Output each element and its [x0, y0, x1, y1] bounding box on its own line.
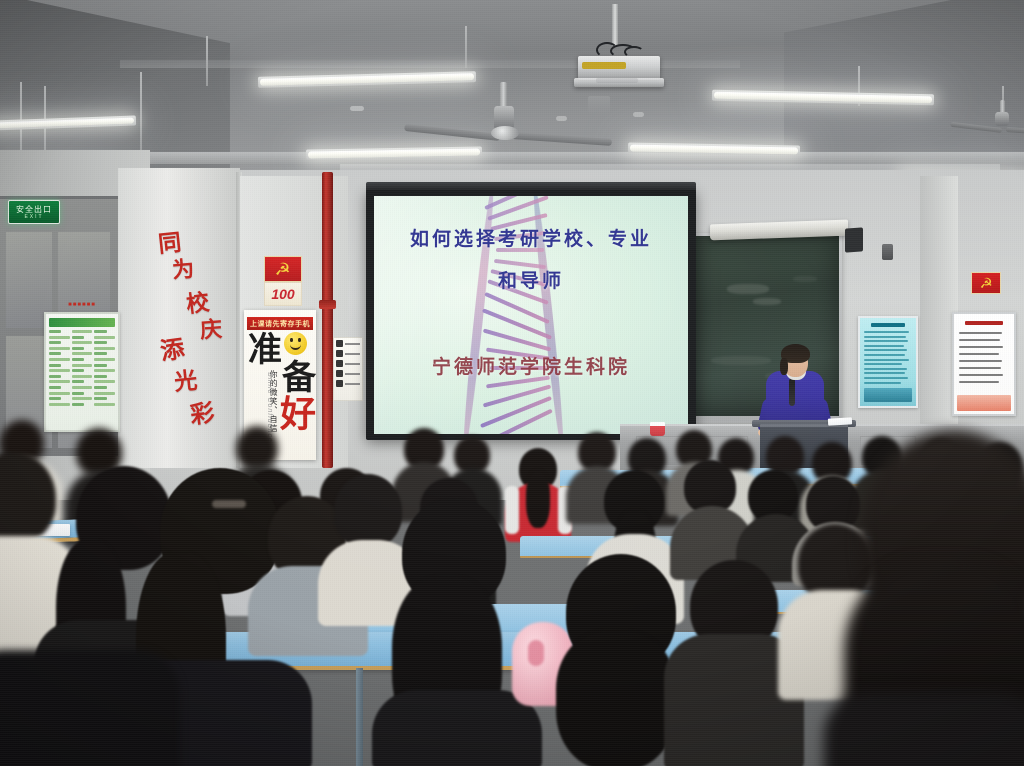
phone-storage-banner: 上课请先寄存手机	[247, 317, 313, 330]
white-poster-footer-image	[957, 395, 1011, 411]
projector-mount-pole	[612, 4, 618, 46]
anniversary-number-label: 100	[271, 286, 294, 302]
green-poster-caption: ■■■■■■	[46, 302, 118, 312]
communist-party-emblem: ☭	[264, 256, 302, 282]
calligraphy-char-5: 添	[158, 329, 187, 367]
podium-notes	[828, 417, 852, 425]
wall-poster-green-notice	[44, 312, 120, 432]
student-fg-head-5	[334, 474, 402, 548]
projector-label	[582, 62, 626, 69]
light-rod-3	[140, 72, 142, 152]
calligraphy-char-6: 光	[172, 361, 198, 397]
cyan-poster-title-bar	[871, 323, 905, 327]
party-100th-anniversary-logo: 100	[264, 282, 302, 306]
calligraphy-char-2: 为	[171, 251, 196, 285]
backpack-strap	[528, 640, 544, 666]
calligraphy-char-7: 彩	[188, 393, 216, 431]
smile-poster-char-3: 好	[280, 396, 316, 432]
fan-hub	[491, 126, 519, 140]
cyan-poster-footer-image	[864, 388, 912, 402]
slide-title-line-1: 如何选择考研学校、专业	[374, 224, 688, 251]
exit-sign-english-label: EXIT	[24, 214, 43, 220]
light-rod-4	[206, 36, 208, 86]
ceiling-sensor-2	[556, 116, 567, 121]
classroom-photo: 安全出口 EXIT ■■■■■■	[0, 0, 1024, 766]
green-poster-col-1	[49, 330, 70, 408]
red-utility-pipe	[322, 172, 333, 468]
student-fg-body-large-right	[824, 692, 1024, 766]
smiley-face-icon	[284, 332, 307, 355]
light-rod-1	[20, 82, 22, 154]
ceiling-sensor-3	[633, 112, 644, 117]
white-poster-title-bar	[965, 321, 1003, 325]
student-fg-body-bottom-left	[0, 650, 180, 766]
smile-poster-char-1: 准	[248, 334, 282, 368]
student-fg-hair-7	[556, 630, 676, 766]
wall-poster-party-conduct	[952, 312, 1016, 416]
drinking-cup	[650, 422, 665, 436]
presenter-hair-side	[780, 358, 788, 375]
smile-poster-char-2: 备	[282, 362, 316, 396]
red-pipe-joint	[319, 300, 336, 309]
ceiling-vent	[588, 96, 610, 114]
exit-sign: 安全出口 EXIT	[8, 200, 60, 224]
green-poster-columns	[49, 330, 115, 408]
green-poster-title-bar	[49, 318, 115, 327]
ceiling-sensor-1	[350, 106, 364, 111]
wall-speaker	[882, 244, 893, 260]
wall-pillar-calligraphy	[118, 168, 240, 468]
hair-clip-icon	[212, 500, 246, 508]
wall-poster-phone-notice	[333, 337, 363, 401]
light-rod-5	[465, 26, 467, 68]
hammer-sickle-icon-right: ☭	[979, 276, 992, 290]
wall-poster-cyan-notice	[858, 316, 918, 408]
slide-footer-organization: 宁德师范学院生科院	[374, 352, 688, 379]
fan-motor-right	[995, 112, 1009, 126]
green-poster-col-2	[72, 330, 93, 408]
hammer-sickle-icon: ☭	[275, 261, 291, 278]
calligraphy-char-4: 庆	[199, 311, 223, 344]
student-shirt-sleeve-left	[505, 486, 519, 534]
projection-screen: 如何选择考研学校、专业 和导师 宁德师范学院生科院	[374, 196, 688, 434]
blackboard-light-bracket	[845, 227, 863, 252]
desk-leg-row1-mid	[356, 668, 363, 766]
green-poster-col-3	[94, 330, 115, 408]
slide-title-line-2: 和导师	[374, 266, 688, 293]
exit-sign-chinese-label: 安全出口	[16, 205, 52, 214]
projector-base	[574, 78, 664, 87]
student-fg-body-6	[372, 690, 542, 766]
microphone-icon	[789, 378, 795, 406]
fan-stem	[500, 82, 507, 108]
communist-party-emblem-right: ☭	[971, 272, 1001, 294]
ceiling-beam-main	[0, 152, 1024, 164]
student-hair-redvest	[526, 470, 550, 528]
